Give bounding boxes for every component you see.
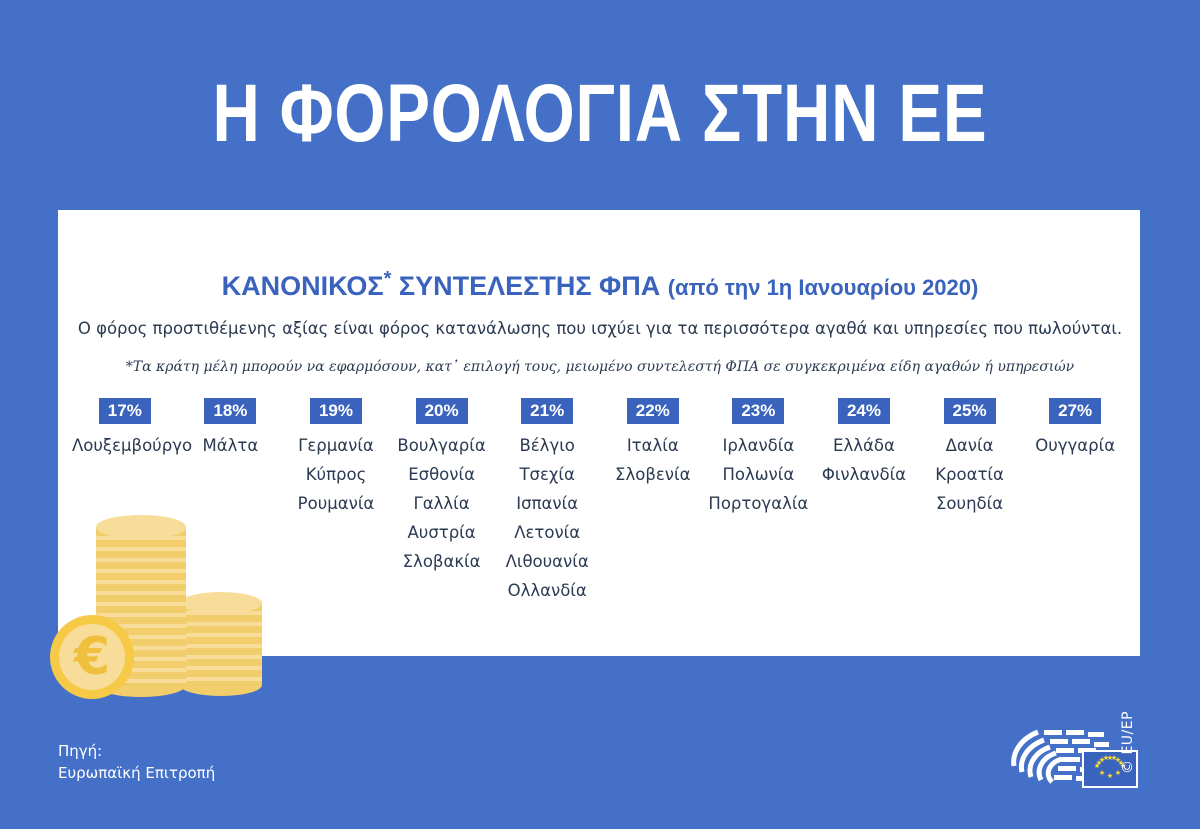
ep-logo-icon: ★ ★ ★ ★ ★ ★ ★ ★ ★ ★ ★ ★ xyxy=(1000,722,1140,794)
rate-badge: 17% xyxy=(99,398,151,424)
svg-text:★: ★ xyxy=(1096,759,1102,767)
rate-badge: 19% xyxy=(310,398,362,424)
country-item: Λετονία xyxy=(494,518,600,547)
country-item: Ολλανδία xyxy=(494,576,600,605)
rate-column-20: 20% Βουλγαρία Εσθονία Γαλλία Αυστρία Σλο… xyxy=(389,398,495,576)
panel-footnote: *Τα κράτη μέλη μπορούν να εφαρμόσουν, κα… xyxy=(0,357,1200,377)
country-item: Σλοβακία xyxy=(389,547,495,576)
svg-text:★: ★ xyxy=(1103,754,1109,762)
country-list: Ουγγαρία xyxy=(1022,431,1128,460)
rate-badge: 23% xyxy=(732,398,784,424)
country-item: Πορτογαλία xyxy=(706,489,812,518)
euro-coin: € xyxy=(50,615,134,699)
source-credit: Πηγή: Ευρωπαϊκή Επιτροπή xyxy=(58,740,215,784)
svg-text:★: ★ xyxy=(1099,769,1105,777)
country-item: Ουγγαρία xyxy=(1022,431,1128,460)
rate-column-24: 24% Ελλάδα Φινλανδία xyxy=(811,398,917,489)
country-item: Γαλλία xyxy=(389,489,495,518)
rate-badge: 21% xyxy=(521,398,573,424)
rate-column-21: 21% Βέλγιο Τσεχία Ισπανία Λετονία Λιθουα… xyxy=(494,398,600,605)
rate-badge: 20% xyxy=(416,398,468,424)
rate-column-22: 22% Ιταλία Σλοβενία xyxy=(600,398,706,489)
country-list: Βουλγαρία Εσθονία Γαλλία Αυστρία Σλοβακί… xyxy=(389,431,495,576)
country-item: Εσθονία xyxy=(389,460,495,489)
country-list: Ελλάδα Φινλανδία xyxy=(811,431,917,489)
rate-badge: 22% xyxy=(627,398,679,424)
country-list: Δανία Κροατία Σουηδία xyxy=(917,431,1023,518)
source-value: Ευρωπαϊκή Επιτροπή xyxy=(58,762,215,784)
country-item: Βέλγιο xyxy=(494,431,600,460)
svg-text:★: ★ xyxy=(1111,754,1117,762)
country-item: Σουηδία xyxy=(917,489,1023,518)
country-item: Λιθουανία xyxy=(494,547,600,576)
source-label: Πηγή: xyxy=(58,740,215,762)
copyright-text: © EU/EP xyxy=(1120,752,1136,774)
european-parliament-logo: ★ ★ ★ ★ ★ ★ ★ ★ ★ ★ ★ ★ xyxy=(1000,722,1140,794)
euro-coin-stacks-illustration: € xyxy=(48,505,288,705)
country-item: Κύπρος xyxy=(283,460,389,489)
svg-text:★: ★ xyxy=(1107,772,1113,780)
country-list: Ιρλανδία Πολωνία Πορτογαλία xyxy=(706,431,812,518)
rate-column-19: 19% Γερμανία Κύπρος Ρουμανία xyxy=(283,398,389,518)
rate-badge: 27% xyxy=(1049,398,1101,424)
coins-icon: € xyxy=(48,505,288,705)
country-item: Πολωνία xyxy=(706,460,812,489)
copyright-notice: © EU/EP xyxy=(1148,722,1170,802)
country-item: Φινλανδία xyxy=(811,460,917,489)
country-item: Βουλγαρία xyxy=(389,431,495,460)
country-list: Γερμανία Κύπρος Ρουμανία xyxy=(283,431,389,518)
country-item: Αυστρία xyxy=(389,518,495,547)
subtitle-date: (από την 1η Ιανουαρίου 2020) xyxy=(668,275,979,300)
rate-column-17: 17% Λουξεμβούργο xyxy=(72,398,178,460)
country-item: Ιρλανδία xyxy=(706,431,812,460)
rate-column-25: 25% Δανία Κροατία Σουηδία xyxy=(917,398,1023,518)
country-list: Μάλτα xyxy=(178,431,284,460)
panel-description: Ο φόρος προστιθέμενης αξίας είναι φόρος … xyxy=(0,317,1200,341)
panel-subtitle: ΚΑΝΟΝΙΚΟΣ* ΣΥΝΤΕΛΕΣΤΗΣ ΦΠΑ (από την 1η Ι… xyxy=(0,262,1200,305)
euro-symbol: € xyxy=(73,627,110,687)
country-item: Λουξεμβούργο xyxy=(72,431,178,460)
country-item: Σλοβενία xyxy=(600,460,706,489)
country-item: Ισπανία xyxy=(494,489,600,518)
country-item: Μάλτα xyxy=(178,431,284,460)
page-title: Η ΦΟΡΟΛΟΓΙΑ ΣΤΗΝ ΕΕ xyxy=(120,66,1080,162)
country-item: Γερμανία xyxy=(283,431,389,460)
country-list: Βέλγιο Τσεχία Ισπανία Λετονία Λιθουανία … xyxy=(494,431,600,605)
country-item: Δανία xyxy=(917,431,1023,460)
country-item: Τσεχία xyxy=(494,460,600,489)
country-list: Λουξεμβούργο xyxy=(72,431,178,460)
rate-badge: 25% xyxy=(944,398,996,424)
country-item: Ιταλία xyxy=(600,431,706,460)
coin-stack-right xyxy=(180,592,262,696)
country-list: Ιταλία Σλοβενία xyxy=(600,431,706,489)
country-item: Ελλάδα xyxy=(811,431,917,460)
country-item: Κροατία xyxy=(917,460,1023,489)
country-item: Ρουμανία xyxy=(283,489,389,518)
subtitle-main: ΚΑΝΟΝΙΚΟΣ xyxy=(222,271,384,301)
rate-badge: 24% xyxy=(838,398,890,424)
subtitle-rest: ΣΥΝΤΕΛΕΣΤΗΣ ΦΠΑ xyxy=(391,271,667,301)
rate-badge: 18% xyxy=(204,398,256,424)
rate-column-23: 23% Ιρλανδία Πολωνία Πορτογαλία xyxy=(706,398,812,518)
rate-column-27: 27% Ουγγαρία xyxy=(1022,398,1128,460)
rate-column-18: 18% Μάλτα xyxy=(178,398,284,460)
